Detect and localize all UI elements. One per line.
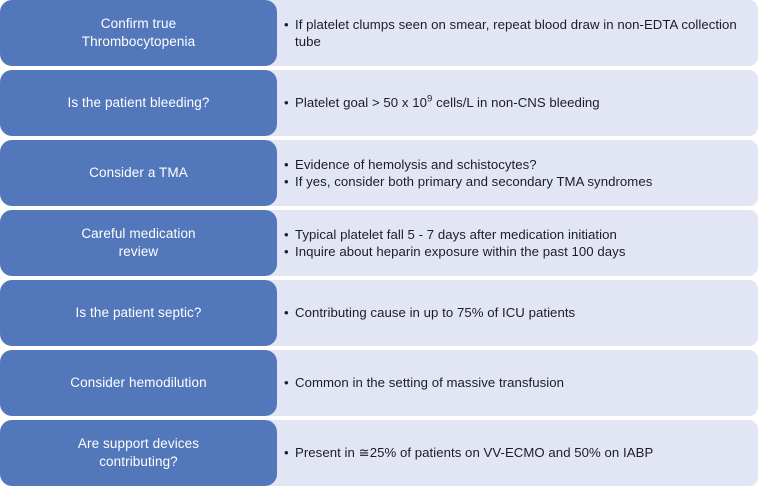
detail-bullet: •Common in the setting of massive transf… <box>284 374 744 392</box>
step-panel: Careful medication review <box>0 210 277 276</box>
detail-panel: •Common in the setting of massive transf… <box>262 350 758 416</box>
detail-bullet-label: Inquire about heparin exposure within th… <box>295 243 744 261</box>
step-label: Consider hemodilution <box>70 374 206 392</box>
step-panel: Is the patient bleeding? <box>0 70 277 136</box>
workflow-row: •Present in ≅25% of patients on VV-ECMO … <box>0 420 762 490</box>
detail-panel: •Evidence of hemolysis and schistocytes?… <box>262 140 758 206</box>
step-panel: Consider hemodilution <box>0 350 277 416</box>
detail-bullet-label: Present in ≅25% of patients on VV-ECMO a… <box>295 444 744 462</box>
exponent-superscript: 9 <box>427 94 432 105</box>
step-label: Consider a TMA <box>89 164 188 182</box>
workflow-row: •Evidence of hemolysis and schistocytes?… <box>0 140 762 210</box>
bullet-dot-icon: • <box>284 444 295 462</box>
workflow-row-inner: •Contributing cause in up to 75% of ICU … <box>0 280 762 346</box>
workflow-row-inner: •If platelet clumps seen on smear, repea… <box>0 0 762 66</box>
workflow-row-inner: •Typical platelet fall 5 - 7 days after … <box>0 210 762 276</box>
detail-bullet: •Platelet goal > 50 x 109 cells/L in non… <box>284 94 744 112</box>
detail-panel: •Present in ≅25% of patients on VV-ECMO … <box>262 420 758 486</box>
bullet-dot-icon: • <box>284 16 295 34</box>
detail-bullet: •If yes, consider both primary and secon… <box>284 173 744 191</box>
detail-bullet-label: Platelet goal > 50 x 109 cells/L in non-… <box>295 94 744 112</box>
workflow-row: •Platelet goal > 50 x 109 cells/L in non… <box>0 70 762 140</box>
detail-bullet-label: Contributing cause in up to 75% of ICU p… <box>295 304 744 322</box>
detail-panel: •Platelet goal > 50 x 109 cells/L in non… <box>262 70 758 136</box>
bullet-dot-icon: • <box>284 94 295 112</box>
detail-bullet: •Present in ≅25% of patients on VV-ECMO … <box>284 444 744 462</box>
step-panel: Are support devices contributing? <box>0 420 277 486</box>
step-label: Is the patient bleeding? <box>67 94 209 112</box>
detail-bullet-label: Evidence of hemolysis and schistocytes? <box>295 156 744 174</box>
workflow-row: •Typical platelet fall 5 - 7 days after … <box>0 210 762 280</box>
workflow-row: •If platelet clumps seen on smear, repea… <box>0 0 762 70</box>
step-label: Confirm true Thrombocytopenia <box>82 15 195 51</box>
bullet-dot-icon: • <box>284 243 295 261</box>
workflow-row-inner: •Common in the setting of massive transf… <box>0 350 762 416</box>
bullet-dot-icon: • <box>284 173 295 191</box>
bullet-dot-icon: • <box>284 156 295 174</box>
step-panel: Is the patient septic? <box>0 280 277 346</box>
step-panel: Confirm true Thrombocytopenia <box>0 0 277 66</box>
step-label: Is the patient septic? <box>75 304 201 322</box>
bullet-dot-icon: • <box>284 374 295 392</box>
workflow-row-inner: •Evidence of hemolysis and schistocytes?… <box>0 140 762 206</box>
detail-bullet: •Contributing cause in up to 75% of ICU … <box>284 304 744 322</box>
bullet-dot-icon: • <box>284 304 295 322</box>
thrombocytopenia-workflow-diagram: •If platelet clumps seen on smear, repea… <box>0 0 762 492</box>
workflow-row-inner: •Present in ≅25% of patients on VV-ECMO … <box>0 420 762 486</box>
detail-bullet-label: Common in the setting of massive transfu… <box>295 374 744 392</box>
step-panel: Consider a TMA <box>0 140 277 206</box>
workflow-row: •Contributing cause in up to 75% of ICU … <box>0 280 762 350</box>
bullet-dot-icon: • <box>284 226 295 244</box>
detail-bullet: •Evidence of hemolysis and schistocytes? <box>284 156 744 174</box>
workflow-row-inner: •Platelet goal > 50 x 109 cells/L in non… <box>0 70 762 136</box>
step-label: Careful medication review <box>81 225 195 261</box>
workflow-row: •Common in the setting of massive transf… <box>0 350 762 420</box>
detail-bullet: •Inquire about heparin exposure within t… <box>284 243 744 261</box>
detail-bullet-label: If platelet clumps seen on smear, repeat… <box>295 16 744 51</box>
detail-panel: •If platelet clumps seen on smear, repea… <box>262 0 758 66</box>
step-label: Are support devices contributing? <box>78 435 199 471</box>
detail-panel: •Contributing cause in up to 75% of ICU … <box>262 280 758 346</box>
detail-bullet-label: If yes, consider both primary and second… <box>295 173 744 191</box>
detail-bullet: •Typical platelet fall 5 - 7 days after … <box>284 226 744 244</box>
detail-bullet-label: Typical platelet fall 5 - 7 days after m… <box>295 226 744 244</box>
detail-panel: •Typical platelet fall 5 - 7 days after … <box>262 210 758 276</box>
detail-bullet: •If platelet clumps seen on smear, repea… <box>284 16 744 51</box>
